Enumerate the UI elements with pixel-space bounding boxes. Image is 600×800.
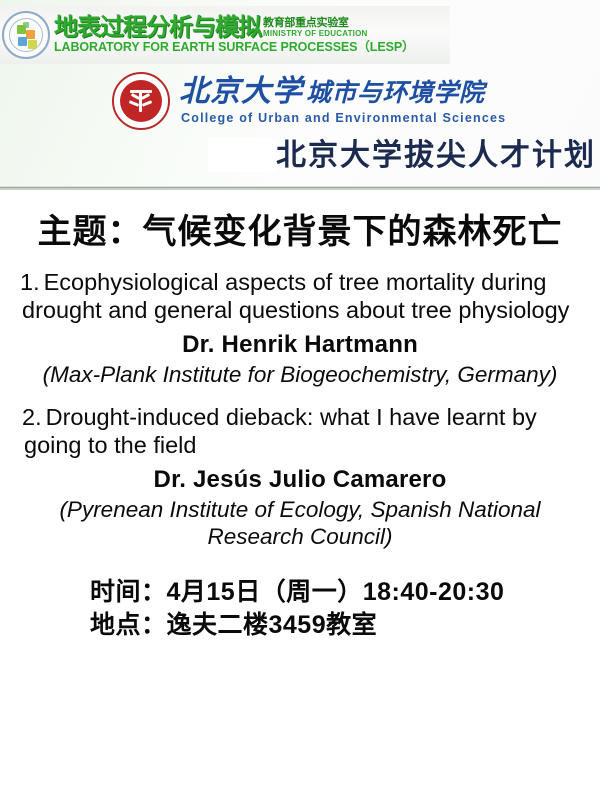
lesp-primary-line: 地表过程分析与模拟 教育部重点实验室 MINISTRY OF EDUCATION	[54, 16, 414, 40]
college-name-cn-row: 北京大学 城市与环境学院	[179, 77, 506, 107]
lesp-lab-name-cn: 地表过程分析与模拟	[54, 16, 261, 40]
lesp-text-block: 地表过程分析与模拟 教育部重点实验室 MINISTRY OF EDUCATION…	[54, 16, 414, 55]
talk-1-speaker: Dr. Henrik Hartmann	[0, 331, 600, 359]
talk-2-number: 2.	[22, 404, 42, 430]
pku-glyph-right-2	[142, 100, 152, 107]
lesp-circular-seal-icon	[2, 11, 50, 59]
pku-glyph-left-2	[129, 100, 139, 107]
pku-seal-glyph	[127, 89, 155, 113]
talk-1-title-row: 1.Ecophysiological aspects of tree morta…	[0, 269, 600, 325]
peking-university-seal-icon	[112, 72, 170, 130]
event-time: 时间：4月15日（周一）18:40-20:30	[90, 576, 600, 609]
lesp-seal-block-1	[17, 25, 26, 34]
event-location: 地点：逸夫二楼3459教室	[90, 609, 600, 642]
pku-glyph-stem	[139, 92, 142, 112]
lesp-seal-block-3	[18, 37, 27, 46]
college-name-cn: 城市与环境学院	[306, 81, 485, 106]
talk-1-title: Ecophysiological aspects of tree mortali…	[22, 269, 569, 323]
event-details: 时间：4月15日（周一）18:40-20:30 地点：逸夫二楼3459教室	[0, 576, 600, 642]
talk-1-number: 1.	[20, 269, 40, 295]
lesp-ministry-block: 教育部重点实验室 MINISTRY OF EDUCATION	[263, 18, 368, 38]
talk-entry-2: 2.Drought-induced dieback: what I have l…	[0, 404, 600, 550]
college-text-block: 北京大学 城市与环境学院 College of Urban and Enviro…	[179, 77, 506, 125]
lesp-seal-block-2	[26, 30, 35, 39]
college-name-en: College of Urban and Environmental Scien…	[181, 111, 506, 125]
talk-entry-1: 1.Ecophysiological aspects of tree morta…	[0, 269, 600, 388]
pku-glyph-right-1	[141, 93, 150, 100]
talk-1-affiliation: (Max-Plank Institute for Biogeochemistry…	[0, 361, 600, 388]
university-name-cn: 北京大学	[179, 77, 303, 107]
lesp-ministry-en: MINISTRY OF EDUCATION	[263, 30, 368, 39]
program-banner: 北京大学拔尖人才计划	[208, 138, 596, 172]
college-logo-block: 北京大学 城市与环境学院 College of Urban and Enviro…	[112, 72, 506, 130]
lesp-seal-block-4	[28, 40, 37, 49]
page-title: 主题：气候变化背景下的森林死亡	[0, 204, 600, 253]
lesp-lab-name-en: LABORATORY FOR EARTH SURFACE PROCESSES（L…	[54, 41, 414, 55]
seminar-poster: 地表过程分析与模拟 教育部重点实验室 MINISTRY OF EDUCATION…	[0, 0, 600, 800]
poster-header: 地表过程分析与模拟 教育部重点实验室 MINISTRY OF EDUCATION…	[0, 0, 600, 186]
poster-body: 主题：气候变化背景下的森林死亡 1.Ecophysiological aspec…	[0, 190, 600, 800]
talk-2-title: Drought-induced dieback: what I have lea…	[24, 404, 537, 458]
talk-2-affiliation: (Pyrenean Institute of Ecology, Spanish …	[0, 496, 600, 550]
program-banner-spacer	[208, 138, 276, 172]
talk-2-title-row: 2.Drought-induced dieback: what I have l…	[0, 404, 600, 460]
lesp-logo-block: 地表过程分析与模拟 教育部重点实验室 MINISTRY OF EDUCATION…	[0, 6, 450, 64]
program-banner-text: 北京大学拔尖人才计划	[276, 139, 596, 172]
talk-2-speaker: Dr. Jesús Julio Camarero	[0, 466, 600, 494]
